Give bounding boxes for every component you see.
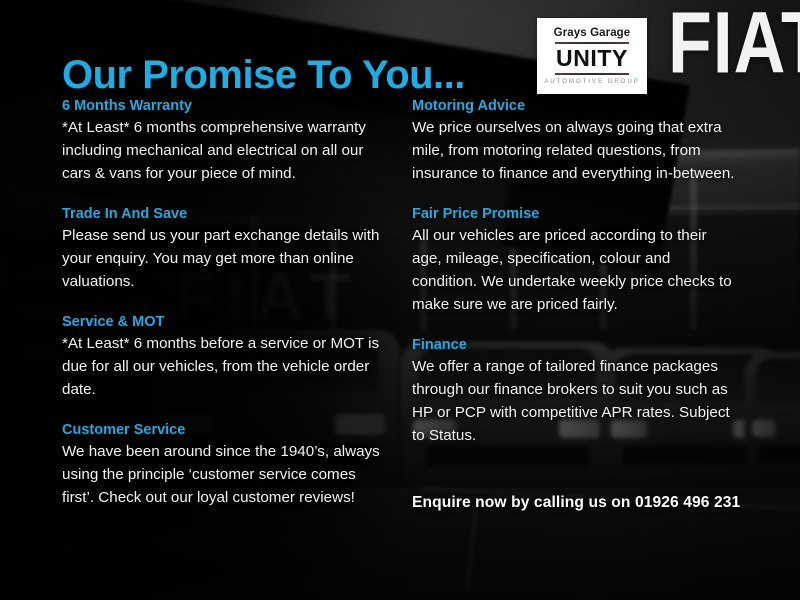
unity-logo-main-line: UNITY xyxy=(556,46,628,71)
promise-heading: 6 Months Warranty xyxy=(62,96,387,116)
promise-block: Service & MOT *At Least* 6 months before… xyxy=(62,312,387,401)
promise-body: We have been around since the 1940’s, al… xyxy=(62,440,387,509)
promise-body: Please send us your part exchange detail… xyxy=(62,224,387,293)
promise-heading: Fair Price Promise xyxy=(412,204,737,224)
promise-poster: FIAT FIAT Our Promise To You... xyxy=(0,0,800,600)
promise-block: 6 Months Warranty *At Least* 6 months co… xyxy=(62,96,387,185)
unity-logo-sub-line: AUTOMOTIVE GROUP xyxy=(544,78,640,85)
promise-body: *At Least* 6 months before a service or … xyxy=(62,332,387,401)
unity-logo-rule-top xyxy=(555,42,629,44)
unity-logo-top-line: Grays Garage xyxy=(554,27,631,39)
unity-logo-rule-bottom xyxy=(555,73,629,75)
promise-block: Customer Service We have been around sin… xyxy=(62,420,387,509)
promise-body: We offer a range of tailored finance pac… xyxy=(412,355,737,447)
unity-automotive-group-logo: Grays Garage UNITY AUTOMOTIVE GROUP xyxy=(537,18,647,94)
promise-heading: Customer Service xyxy=(62,420,387,440)
promise-body: We price ourselves on always going that … xyxy=(412,116,737,185)
promise-body: All our vehicles are priced according to… xyxy=(412,224,737,316)
promise-column-right: Motoring Advice We price ourselves on al… xyxy=(412,96,737,447)
promise-heading: Finance xyxy=(412,335,737,355)
promise-column-left: 6 Months Warranty *At Least* 6 months co… xyxy=(62,96,387,509)
promise-block: Trade In And Save Please send us your pa… xyxy=(62,204,387,293)
call-to-action-phone[interactable]: Enquire now by calling us on 01926 496 2… xyxy=(412,494,740,512)
page-title: Our Promise To You... xyxy=(62,53,465,98)
promise-heading: Service & MOT xyxy=(62,312,387,332)
fiat-brand-logo: FIAT xyxy=(668,0,800,94)
promise-block: Finance We offer a range of tailored fin… xyxy=(412,335,737,447)
promise-block: Fair Price Promise All our vehicles are … xyxy=(412,204,737,316)
promise-block: Motoring Advice We price ourselves on al… xyxy=(412,96,737,185)
promise-heading: Motoring Advice xyxy=(412,96,737,116)
promise-heading: Trade In And Save xyxy=(62,204,387,224)
promise-body: *At Least* 6 months comprehensive warran… xyxy=(62,116,387,185)
